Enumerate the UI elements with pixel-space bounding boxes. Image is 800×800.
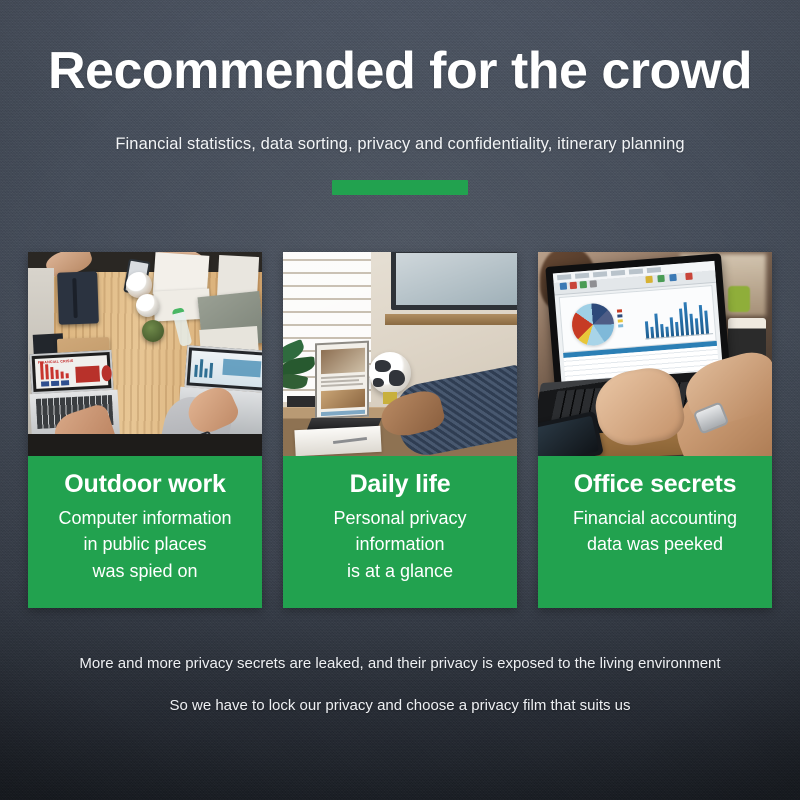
card-title: Outdoor work: [36, 469, 254, 500]
page-subtitle: Financial statistics, data sorting, priv…: [0, 99, 800, 154]
feature-card-office-secrets[interactable]: Office secrets Financial accounting data…: [538, 252, 772, 608]
card-body-line: Computer information: [36, 505, 254, 532]
card-body-line: in public places: [36, 531, 254, 558]
home-desk-laptop-photo: [283, 252, 517, 456]
footer-section: More and more privacy secrets are leaked…: [0, 655, 800, 715]
header-section: Recommended for the crowd Financial stat…: [0, 0, 800, 195]
overhead-meeting-table-photo: FINANCIAL CRISIS: [28, 252, 262, 456]
card-title: Daily life: [291, 469, 509, 500]
feature-card-daily-life[interactable]: Daily life Personal privacy information …: [283, 252, 517, 608]
page-title: Recommended for the crowd: [0, 0, 800, 99]
card-body-line: data was peeked: [546, 531, 764, 558]
footer-line-2: So we have to lock our privacy and choos…: [0, 697, 800, 715]
card-body-line: is at a glance: [291, 558, 509, 585]
card-body-line: was spied on: [36, 558, 254, 585]
card-body-line: Financial accounting: [546, 505, 764, 532]
card-caption-office-secrets: Office secrets Financial accounting data…: [538, 456, 772, 608]
accent-divider-bar: [332, 180, 468, 195]
feature-card-outdoor-work[interactable]: FINANCIAL CRISIS: [28, 252, 262, 608]
card-title: Office secrets: [546, 469, 764, 500]
feature-card-row: FINANCIAL CRISIS: [28, 252, 772, 608]
footer-line-1: More and more privacy secrets are leaked…: [0, 655, 800, 673]
promo-banner: Recommended for the crowd Financial stat…: [0, 0, 800, 800]
bar-chart-graphic: [642, 290, 714, 343]
card-caption-outdoor-work: Outdoor work Computer information in pub…: [28, 456, 262, 608]
laptop-spreadsheet-photo: [538, 252, 772, 456]
card-body-line: Personal privacy: [291, 505, 509, 532]
card-body-line: information: [291, 531, 509, 558]
card-caption-daily-life: Daily life Personal privacy information …: [283, 456, 517, 608]
laptop-browser: [313, 342, 373, 432]
pie-chart-graphic: [570, 302, 615, 347]
